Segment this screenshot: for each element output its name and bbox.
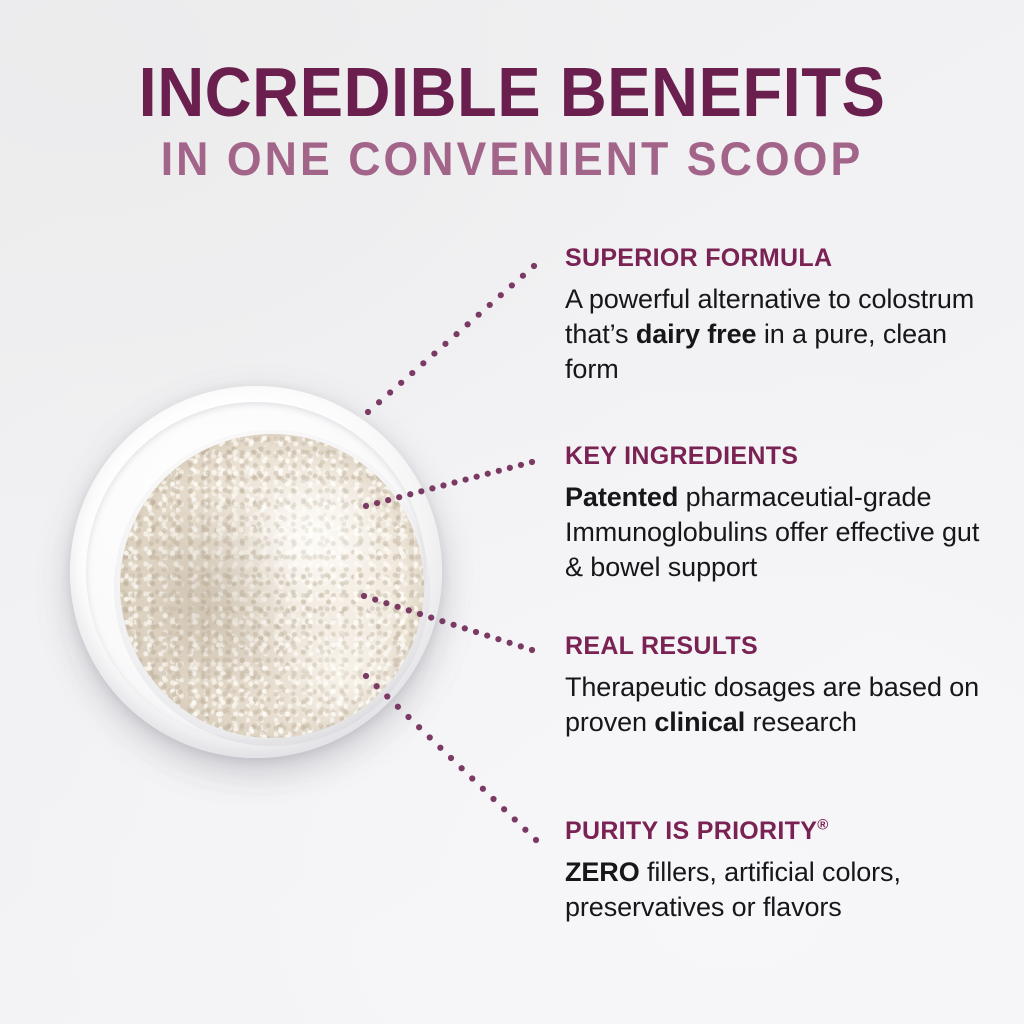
benefit-heading: REAL RESULTS bbox=[565, 633, 995, 661]
benefit-body-text: research bbox=[745, 707, 857, 737]
leader-dot bbox=[531, 263, 537, 269]
supplement-powder bbox=[120, 434, 424, 738]
ceramic-bowl bbox=[70, 386, 442, 758]
leader-dot bbox=[533, 837, 539, 843]
bowl-rim bbox=[86, 402, 426, 742]
benefit-block-purity-is-priority: PURITY IS PRIORITY® ZERO fillers, artifi… bbox=[565, 818, 995, 925]
benefit-body-emphasis: dairy free bbox=[636, 319, 757, 349]
benefit-heading: KEY INGREDIENTS bbox=[565, 443, 995, 471]
benefit-heading-text: PURITY IS PRIORITY bbox=[565, 817, 817, 845]
benefit-block-real-results: REAL RESULTS Therapeutic dosages are bas… bbox=[565, 633, 995, 740]
benefit-heading-text: REAL RESULTS bbox=[565, 632, 758, 660]
benefit-body: A powerful alternative to colostrum that… bbox=[565, 282, 995, 387]
product-image bbox=[10, 300, 530, 860]
benefit-body: Therapeutic dosages are based on proven … bbox=[565, 670, 995, 740]
infographic-canvas: INCREDIBLE BENEFITS IN ONE CONVENIENT SC… bbox=[0, 0, 1024, 1024]
benefit-block-superior-formula: SUPERIOR FORMULA A powerful alternative … bbox=[565, 245, 995, 387]
benefit-block-key-ingredients: KEY INGREDIENTS Patented pharmaceutial-g… bbox=[565, 443, 995, 585]
leader-dot bbox=[520, 273, 526, 279]
benefit-body: Patented pharmaceutial-grade Immunoglobu… bbox=[565, 480, 995, 585]
leader-dot bbox=[498, 292, 504, 298]
benefit-heading: SUPERIOR FORMULA bbox=[565, 245, 995, 273]
benefit-body-emphasis: Patented bbox=[565, 482, 678, 512]
benefit-body-emphasis: clinical bbox=[654, 707, 745, 737]
benefit-body: ZERO fillers, artificial colors, preserv… bbox=[565, 855, 995, 925]
leader-dot bbox=[509, 282, 515, 288]
registered-trademark-icon: ® bbox=[817, 817, 828, 834]
benefit-heading: PURITY IS PRIORITY® bbox=[565, 818, 995, 846]
benefits-list: SUPERIOR FORMULA A powerful alternative … bbox=[565, 0, 1005, 1024]
benefit-heading-text: KEY INGREDIENTS bbox=[565, 442, 798, 470]
benefit-heading-text: SUPERIOR FORMULA bbox=[565, 244, 832, 272]
benefit-body-emphasis: ZERO bbox=[565, 857, 640, 887]
